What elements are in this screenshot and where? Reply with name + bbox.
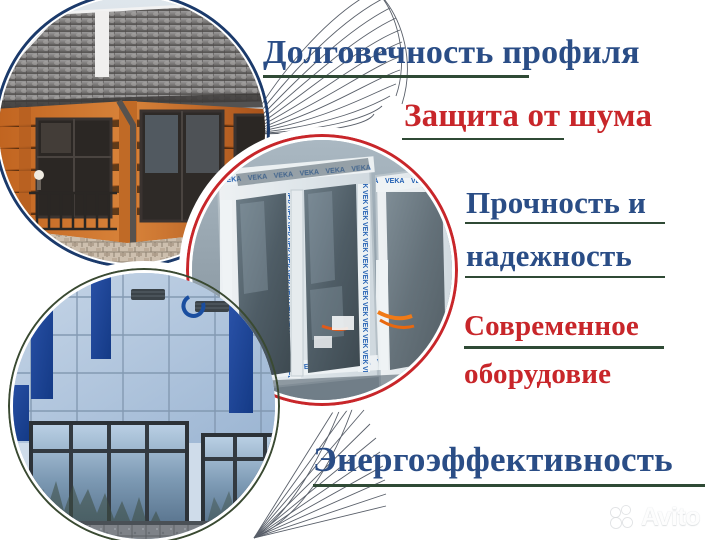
headline-underline <box>465 276 665 278</box>
photo-facade <box>8 268 280 540</box>
headline-modern: Современное <box>464 310 639 343</box>
headline-underline <box>263 75 529 78</box>
headline-underline <box>313 484 705 487</box>
headline-energy-efficiency: Энергоэффективность <box>313 440 673 480</box>
photo-facade-image <box>13 273 275 539</box>
headline-underline <box>465 222 665 224</box>
advertisement-canvas: VEKA VEKA <box>0 0 720 540</box>
headline-durability: Долговечность профиля <box>263 34 640 72</box>
avito-watermark-text: Avito <box>641 505 700 530</box>
headline-reliability: надежность <box>466 238 632 274</box>
headline-noise-protection: Защита от шума <box>404 98 652 135</box>
headline-underline <box>402 138 564 140</box>
avito-watermark: Avito <box>611 500 715 534</box>
headline-equipment: оборудовие <box>464 358 611 391</box>
headline-underline <box>464 346 664 349</box>
headline-strength: Прочность и <box>466 185 646 221</box>
avito-logo-icon <box>611 506 639 528</box>
